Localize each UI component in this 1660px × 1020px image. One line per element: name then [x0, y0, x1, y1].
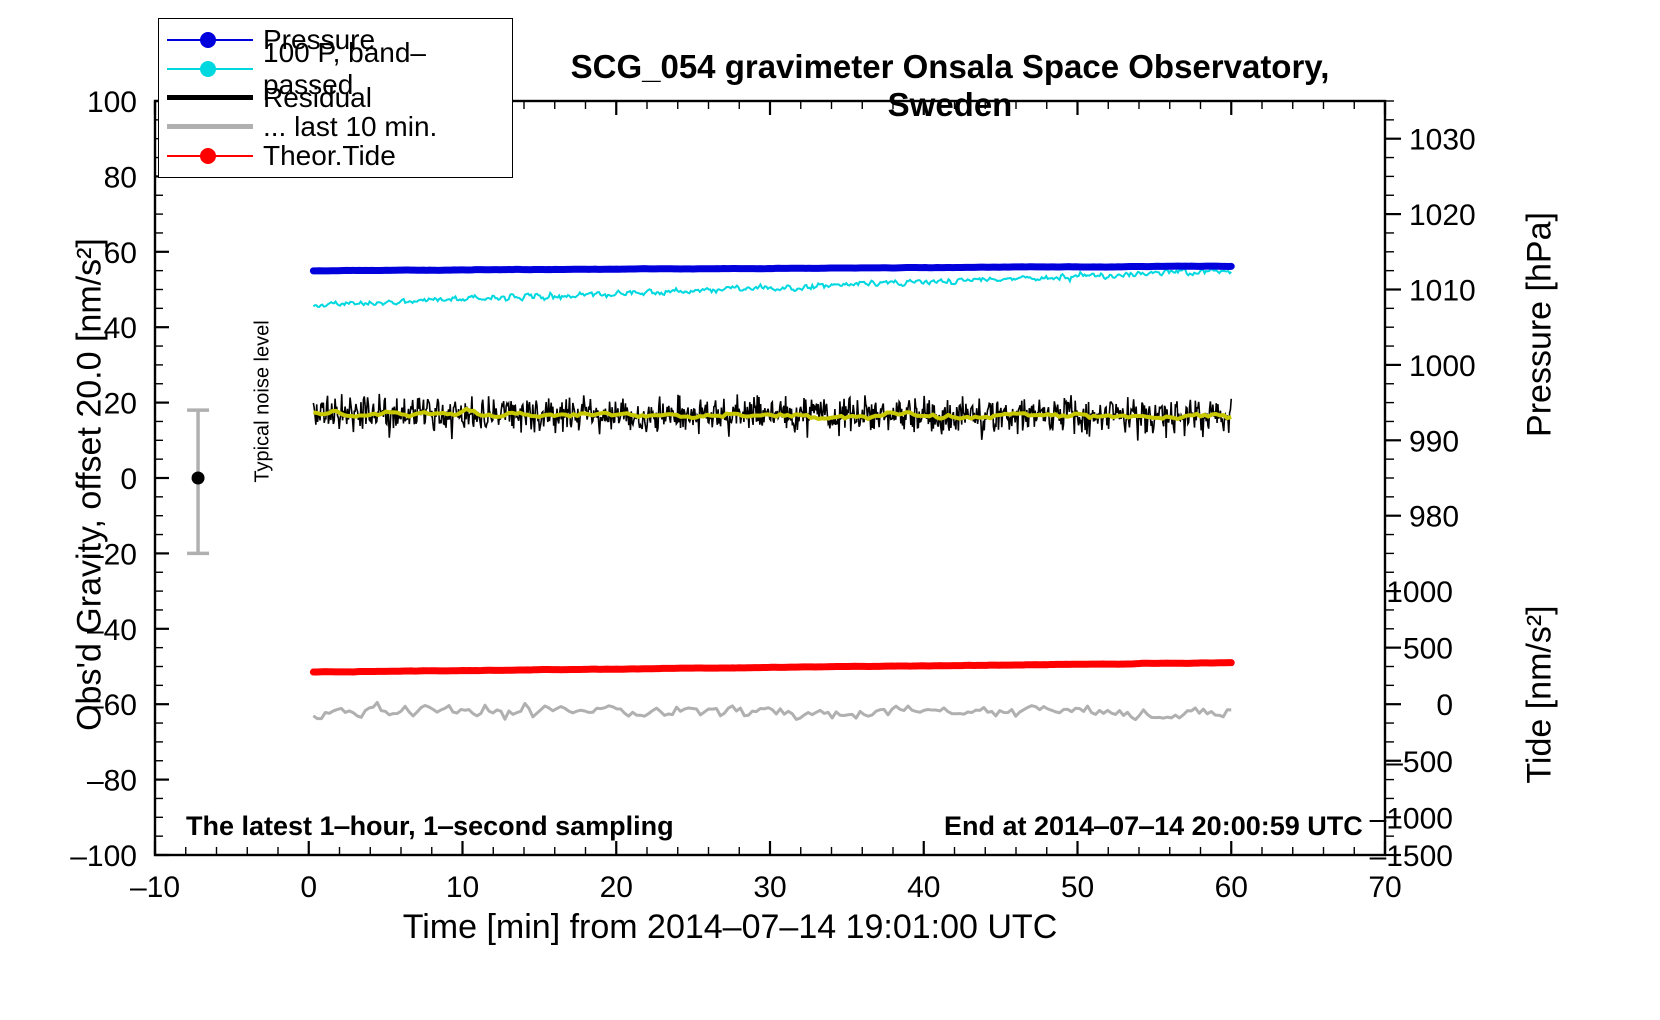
axes-layer: [155, 101, 1401, 855]
legend-swatch-icon: [167, 117, 253, 137]
legend-label: Residual: [263, 82, 372, 114]
series-last-10-min: [313, 702, 1231, 719]
plot-frame: [155, 101, 1385, 855]
legend: Pressure100 P, band‒passedResidual... la…: [158, 18, 513, 178]
legend-label: Theor.Tide: [263, 140, 396, 172]
x-tick-label: 60: [1215, 871, 1248, 904]
x-tick-label: 20: [600, 871, 633, 904]
x-tick-label: 0: [300, 871, 317, 904]
tide-tick-label: 1000: [1386, 576, 1453, 609]
legend-item: ... last 10 min.: [167, 112, 504, 141]
legend-swatch-icon: [167, 88, 253, 108]
y-axis-title-left: Obs'd Gravity, offset 20.0 [nm/s²]: [71, 85, 110, 885]
pressure-tick-label: 980: [1409, 501, 1459, 534]
series-layer: [313, 266, 1231, 720]
legend-swatch-icon: [167, 30, 253, 50]
tide-tick-label: ‒500: [1386, 746, 1453, 779]
y-tick-label: 0: [120, 463, 137, 496]
noise-center-dot: [192, 472, 205, 485]
series-band-passed: [313, 268, 1231, 307]
x-tick-label: ‒10: [130, 871, 180, 904]
labels-layer: ‒10010203040506070100806040200‒20‒40‒60‒…: [70, 86, 1476, 904]
legend-swatch-icon: [167, 59, 253, 79]
legend-label: ... last 10 min.: [263, 111, 437, 143]
x-axis-title: Time [min] from 2014‒07‒14 19:01:00 UTC: [230, 908, 1230, 947]
tide-tick-label: 0: [1436, 689, 1453, 722]
x-tick-label: 40: [907, 871, 940, 904]
pressure-tick-label: 1010: [1409, 275, 1476, 308]
sampling-note: The latest 1‒hour, 1‒second sampling: [186, 811, 674, 842]
tide-tick-label: 500: [1403, 633, 1453, 666]
chart-root: ‒10010203040506070100806040200‒20‒40‒60‒…: [0, 0, 1660, 1020]
pressure-tick-label: 990: [1409, 425, 1459, 458]
legend-item: Theor.Tide: [167, 141, 504, 170]
pressure-tick-label: 1030: [1409, 124, 1476, 157]
x-tick-label: 50: [1061, 871, 1094, 904]
noise-level-label: Typical noise level: [252, 267, 275, 537]
legend-swatch-icon: [167, 146, 253, 166]
legend-item: 100 P, band‒passed: [167, 54, 504, 83]
x-tick-label: 30: [753, 871, 786, 904]
tide-tick-label: ‒1000: [1370, 802, 1453, 835]
end-time-note: End at 2014‒07‒14 20:00:59 UTC: [944, 811, 1363, 842]
page-title: SCG_054 gravimeter Onsala Space Observat…: [520, 48, 1380, 124]
tide-tick-label: ‒1500: [1370, 840, 1453, 873]
pressure-tick-label: 1020: [1409, 199, 1476, 232]
x-tick-label: 70: [1368, 871, 1401, 904]
y-axis-title-pressure: Pressure [hPa]: [1521, 165, 1560, 485]
series-theor-tide: [313, 663, 1231, 672]
x-tick-label: 10: [446, 871, 479, 904]
pressure-tick-label: 1000: [1409, 350, 1476, 383]
series-pressure: [313, 266, 1231, 271]
y-axis-title-tide: Tide [nm/s²]: [1521, 545, 1560, 845]
